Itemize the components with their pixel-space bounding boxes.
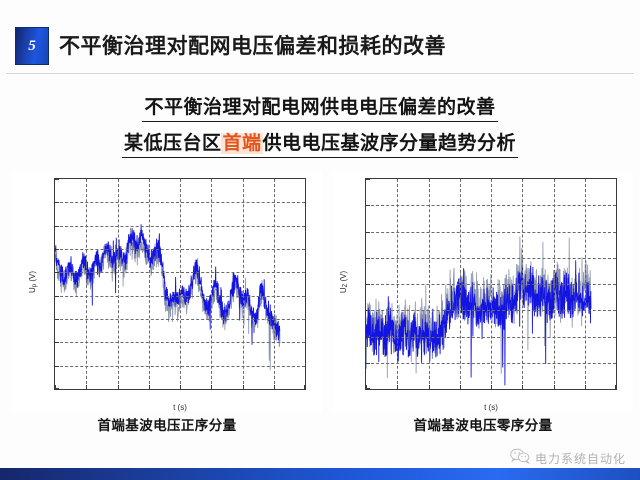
x-tick-label: 0 [54, 389, 57, 390]
chart-caption-positive-sequence: 首端基波电压正序分量 [12, 414, 322, 434]
x-tick-label: 1500 [140, 389, 157, 390]
x-tick-label: 2000 [172, 389, 189, 390]
x-tick-label: 40 [301, 389, 306, 390]
subtitle-secondary: 某低压台区首端供电电压基波序分量趋势分析 [0, 128, 640, 158]
gridline-horizontal [366, 232, 616, 233]
y-tick-mark [366, 310, 370, 311]
y-tick-label: 218.5 [54, 338, 55, 347]
y-tick-mark [55, 226, 59, 227]
x-tick-label: 1000 [109, 389, 126, 390]
x-axis-label-zero-sequence: t (s) [365, 403, 617, 412]
y-tick-label: 7 [365, 201, 366, 210]
y-tick-mark [55, 342, 59, 343]
y-tick-mark [366, 337, 370, 338]
x-tick-label: 2500 [514, 389, 531, 390]
y-tick-label: 217.5 [54, 385, 55, 391]
x-tick-label: 2500 [203, 389, 220, 390]
y-tick-label: 220 [54, 268, 55, 277]
y-axis-label-unit: (V) [339, 271, 348, 284]
y-tick-mark [366, 205, 370, 206]
gridline-horizontal [55, 319, 305, 320]
y-tick-label: 219.5 [54, 291, 55, 300]
gridline-horizontal [366, 363, 616, 364]
y-tick-label: 6 [365, 227, 366, 236]
gridline-vertical [243, 179, 244, 389]
y-tick-label: 220.5 [54, 245, 55, 254]
y-tick-mark [366, 363, 370, 364]
section-number-badge: 5 [15, 27, 49, 65]
y-tick-label: 221 [54, 221, 55, 230]
x-tick-label: 1000 [420, 389, 437, 390]
gridline-vertical [274, 179, 275, 389]
y-axis-label-subscript: Z [343, 284, 349, 288]
y-axis-label-base: U [28, 287, 37, 293]
gridline-vertical [149, 179, 150, 389]
subtitle-highlight: 首端 [221, 133, 262, 154]
slide-root: 5 不平衡治理对配网电压偏差和损耗的改善 不平衡治理对配电网供电电压偏差的改善 … [0, 0, 640, 480]
watermark-text: 电力系统自动化 [535, 450, 626, 467]
y-axis-label-positive-sequence: Up (V) [28, 265, 38, 299]
y-tick-label: 221.5 [54, 198, 55, 207]
y-tick-label: 8 [365, 178, 366, 184]
y-axis-label-unit: (V) [28, 271, 37, 284]
x-tick-label: 500 [80, 389, 93, 390]
gridline-horizontal [55, 226, 305, 227]
y-tick-label: 1 [365, 358, 366, 367]
gridline-horizontal [55, 202, 305, 203]
section-number-text: 5 [28, 39, 36, 54]
gridline-horizontal [55, 272, 305, 273]
x-tick-label: 4000 [608, 389, 617, 390]
y-tick-label: 219 [54, 315, 55, 324]
subtitle-secondary-pre: 某低压台区 [124, 133, 222, 154]
gridline-horizontal [55, 296, 305, 297]
chart-positive-sequence: 050010001500200025003000350040217.521821… [12, 172, 322, 442]
y-tick-mark [55, 249, 59, 250]
x-tick-label: 3500 [576, 389, 593, 390]
y-tick-mark [55, 319, 59, 320]
header-divider [6, 73, 634, 74]
wechat-icon [510, 448, 530, 469]
x-tick-label: 500 [391, 389, 404, 390]
gridline-horizontal [366, 337, 616, 338]
y-tick-mark [55, 366, 59, 367]
y-tick-mark [55, 202, 59, 203]
chart-caption-zero-sequence: 首端基波电压零序分量 [333, 414, 633, 434]
x-tick-label: 2000 [483, 389, 500, 390]
y-tick-label: 2 [365, 332, 366, 341]
footer-bar [0, 468, 640, 480]
x-tick-label: 3000 [545, 389, 562, 390]
x-tick-label: 3500 [265, 389, 282, 390]
subtitle-primary: 不平衡治理对配电网供电电压偏差的改善 [0, 92, 640, 122]
plot-area-positive-sequence: 050010001500200025003000350040217.521821… [54, 178, 306, 390]
gridline-horizontal [55, 366, 305, 367]
x-axis-label-positive-sequence: t (s) [54, 403, 306, 412]
gridline-horizontal [366, 205, 616, 206]
gridline-vertical [180, 179, 181, 389]
gridline-horizontal [55, 342, 305, 343]
y-axis-label-subscript: p [32, 284, 38, 287]
y-tick-mark [55, 272, 59, 273]
y-axis-label-zero-sequence: UZ (V) [339, 265, 349, 299]
gridline-horizontal [366, 258, 616, 259]
y-tick-label: 222 [54, 178, 55, 184]
y-tick-mark [366, 284, 370, 285]
subtitle-secondary-text: 某低压台区首端供电电压基波序分量趋势分析 [122, 128, 518, 158]
y-tick-mark [55, 296, 59, 297]
watermark: 电力系统自动化 [510, 448, 626, 469]
y-tick-mark [55, 388, 59, 389]
gridline-horizontal [366, 284, 616, 285]
y-tick-label: 4 [365, 280, 366, 289]
y-tick-mark [366, 388, 370, 389]
y-tick-label: 0 [365, 385, 366, 391]
y-tick-mark [366, 258, 370, 259]
x-tick-label: 1500 [451, 389, 468, 390]
chart-zero-sequence: 0500100015002000250030003500400001234567… [333, 172, 633, 442]
gridline-horizontal [55, 249, 305, 250]
y-tick-label: 218 [54, 361, 55, 370]
x-tick-label: 3000 [234, 389, 251, 390]
y-axis-label-base: U [339, 287, 348, 293]
subtitle-primary-text: 不平衡治理对配电网供电电压偏差的改善 [142, 92, 497, 122]
x-tick-label: 0 [365, 389, 368, 390]
gridline-vertical [86, 179, 87, 389]
y-tick-mark [55, 179, 59, 180]
page-title: 不平衡治理对配网电压偏差和损耗的改善 [59, 30, 446, 60]
gridline-vertical [118, 179, 119, 389]
slide-header: 5 不平衡治理对配网电压偏差和损耗的改善 [0, 0, 640, 74]
y-tick-mark [366, 179, 370, 180]
plot-area-zero-sequence: 0500100015002000250030003500400001234567… [365, 178, 617, 390]
subtitle-secondary-post: 供电电压基波序分量趋势分析 [263, 133, 517, 154]
gridline-vertical [211, 179, 212, 389]
y-tick-label: 5 [365, 253, 366, 262]
gridline-horizontal [366, 310, 616, 311]
y-tick-mark [366, 232, 370, 233]
y-tick-label: 3 [365, 306, 366, 315]
